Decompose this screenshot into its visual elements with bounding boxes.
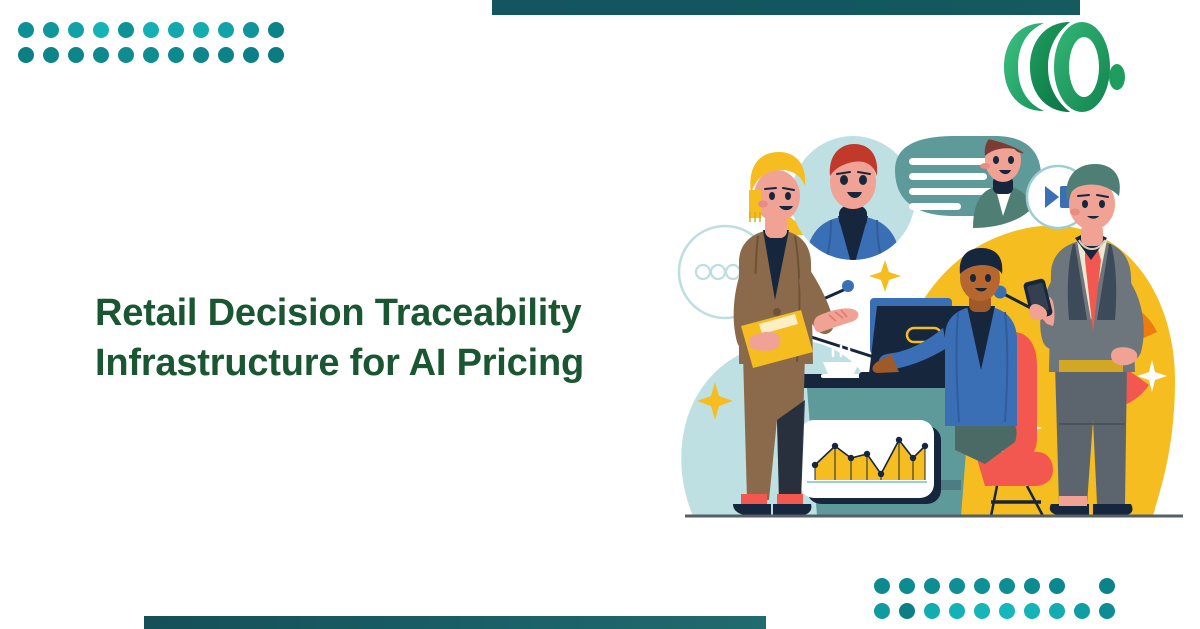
decorative-dot-grid-bottom-right — [874, 578, 1124, 628]
line-chart-card — [800, 420, 941, 504]
dot — [118, 22, 134, 38]
bottom-accent-bar — [144, 616, 766, 629]
top-accent-bar — [492, 0, 1080, 15]
dot — [143, 22, 159, 38]
dot — [1049, 578, 1065, 594]
page-title-line-2: Infrastructure for AI Pricing — [95, 338, 635, 388]
dot — [924, 578, 940, 594]
dot — [68, 22, 84, 38]
dot — [1099, 578, 1115, 594]
dot — [268, 47, 284, 63]
dot — [949, 603, 965, 619]
logo-ring-inner — [1069, 37, 1099, 97]
dot — [974, 578, 990, 594]
dot — [193, 22, 209, 38]
dot — [218, 22, 234, 38]
dot — [268, 22, 284, 38]
dot — [1024, 603, 1040, 619]
dot — [1099, 603, 1115, 619]
dot — [18, 22, 34, 38]
dot — [1024, 578, 1040, 594]
brand-logo — [1004, 17, 1126, 117]
dot-placeholder — [1074, 578, 1090, 594]
dot — [68, 47, 84, 63]
dot-row — [18, 22, 293, 47]
dot-row — [874, 603, 1124, 628]
page-title-line-1: Retail Decision Traceability — [95, 288, 635, 338]
hero-illustration — [655, 120, 1200, 525]
dot — [143, 47, 159, 63]
dot — [243, 22, 259, 38]
page-title: Retail Decision Traceability Infrastruct… — [95, 288, 635, 388]
person-avatar-man-blue — [791, 136, 915, 272]
dot — [243, 47, 259, 63]
dot — [118, 47, 134, 63]
dot — [999, 603, 1015, 619]
dot — [949, 578, 965, 594]
dot — [218, 47, 234, 63]
dot — [899, 603, 915, 619]
dot — [874, 578, 890, 594]
dot — [1049, 603, 1065, 619]
dot — [899, 578, 915, 594]
dot — [168, 47, 184, 63]
dot — [999, 578, 1015, 594]
dot — [18, 47, 34, 63]
decorative-dot-grid-top-left — [18, 22, 293, 72]
dot — [874, 603, 890, 619]
dot — [43, 22, 59, 38]
dot-row — [874, 578, 1124, 603]
dot — [93, 22, 109, 38]
dot — [193, 47, 209, 63]
dot — [93, 47, 109, 63]
poster-canvas: Retail Decision Traceability Infrastruct… — [0, 0, 1200, 628]
dot — [168, 22, 184, 38]
dot-row — [18, 47, 293, 72]
dot — [43, 47, 59, 63]
logo-dot — [1109, 64, 1125, 90]
dot — [974, 603, 990, 619]
dot — [924, 603, 940, 619]
dot — [1074, 603, 1090, 619]
